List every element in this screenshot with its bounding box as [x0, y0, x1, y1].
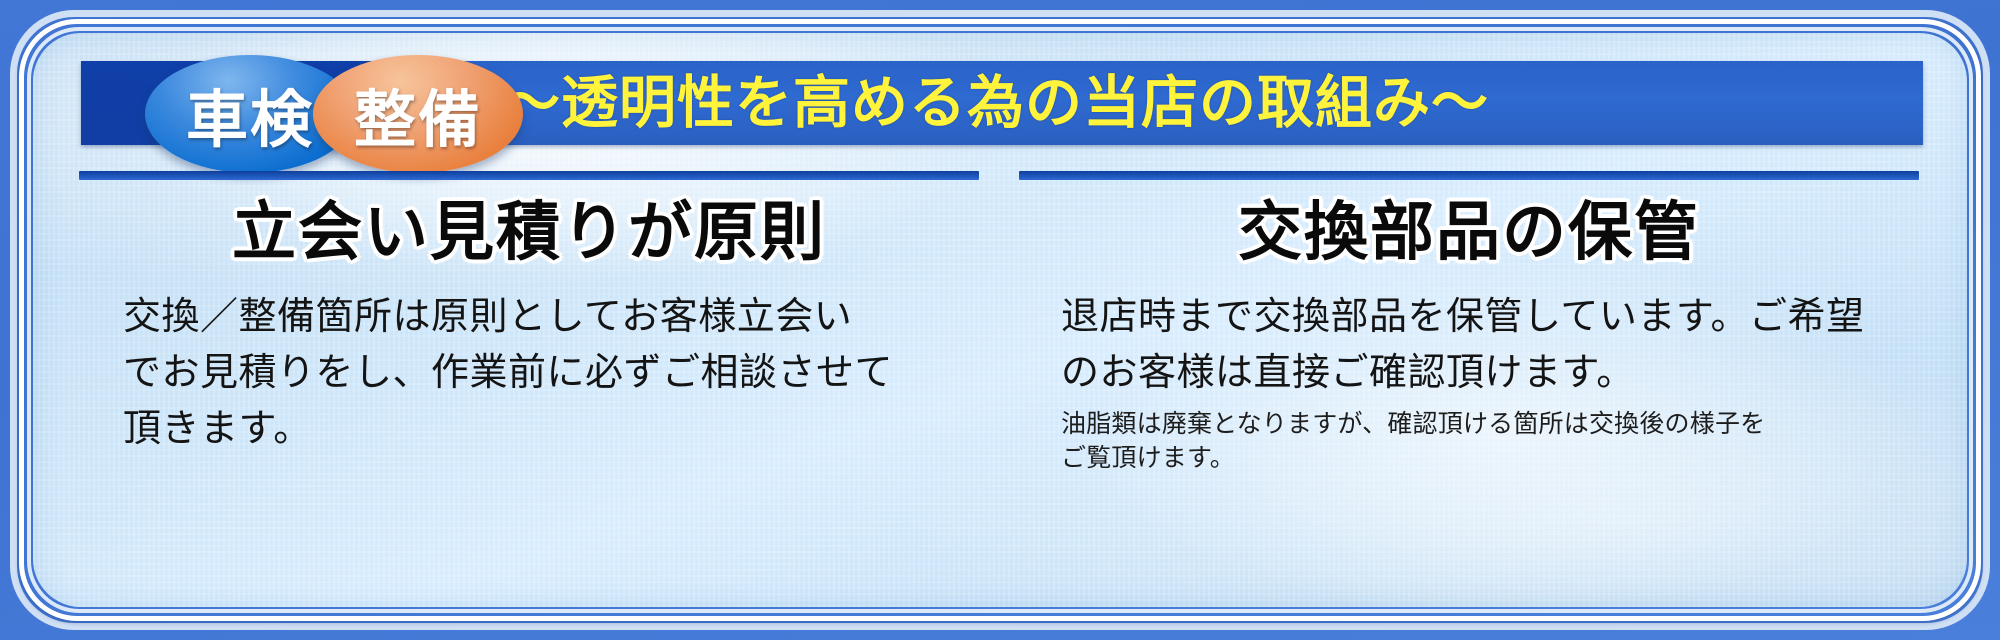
- column-right-note: 油脂類は廃棄となりますが、確認頂ける箇所は交換後の様子を ご覧頂けます。: [1019, 407, 1919, 475]
- column-left-heading: 立会い見積りが原則: [79, 188, 979, 273]
- divider-right: [1019, 171, 1919, 180]
- column-right: 交換部品の保管 退店時まで交換部品を保管しています。ご希望 のお客様は直接ご確認…: [1019, 171, 1919, 474]
- body-line: でお見積りをし、作業前に必ずご相談させて: [123, 345, 969, 401]
- body-line: 退店時まで交換部品を保管しています。ご希望: [1061, 289, 1909, 345]
- banner-content: 〜透明性を高める為の当店の取組み〜 車検 整備 立会い見積りが原則 交換／整備箇…: [33, 33, 1967, 607]
- badge-seibi-label: 整備: [354, 69, 482, 159]
- column-left: 立会い見積りが原則 交換／整備箇所は原則としてお客様立会い でお見積りをし、作業…: [79, 171, 979, 457]
- divider-left: [79, 171, 979, 180]
- column-right-heading: 交換部品の保管: [1019, 188, 1919, 273]
- body-line: 交換／整備箇所は原則としてお客様立会い: [123, 289, 969, 345]
- badge-shaken-label: 車検: [186, 69, 314, 159]
- header-title: 〜透明性を高める為の当店の取組み〜: [503, 61, 1489, 145]
- body-line: のお客様は直接ご確認頂けます。: [1061, 345, 1909, 401]
- column-right-body: 退店時まで交換部品を保管しています。ご希望 のお客様は直接ご確認頂けます。: [1019, 289, 1919, 401]
- promo-banner: 〜透明性を高める為の当店の取組み〜 車検 整備 立会い見積りが原則 交換／整備箇…: [0, 0, 2000, 640]
- note-line: ご覧頂けます。: [1061, 441, 1913, 475]
- badge-seibi: 整備: [313, 55, 523, 173]
- body-line: 頂きます。: [123, 401, 969, 457]
- header-row: 〜透明性を高める為の当店の取組み〜 車検 整備: [33, 55, 1967, 151]
- note-line: 油脂類は廃棄となりますが、確認頂ける箇所は交換後の様子を: [1061, 407, 1913, 441]
- column-left-body: 交換／整備箇所は原則としてお客様立会い でお見積りをし、作業前に必ずご相談させて…: [79, 289, 979, 457]
- inner-panel: 〜透明性を高める為の当店の取組み〜 車検 整備 立会い見積りが原則 交換／整備箇…: [33, 33, 1967, 607]
